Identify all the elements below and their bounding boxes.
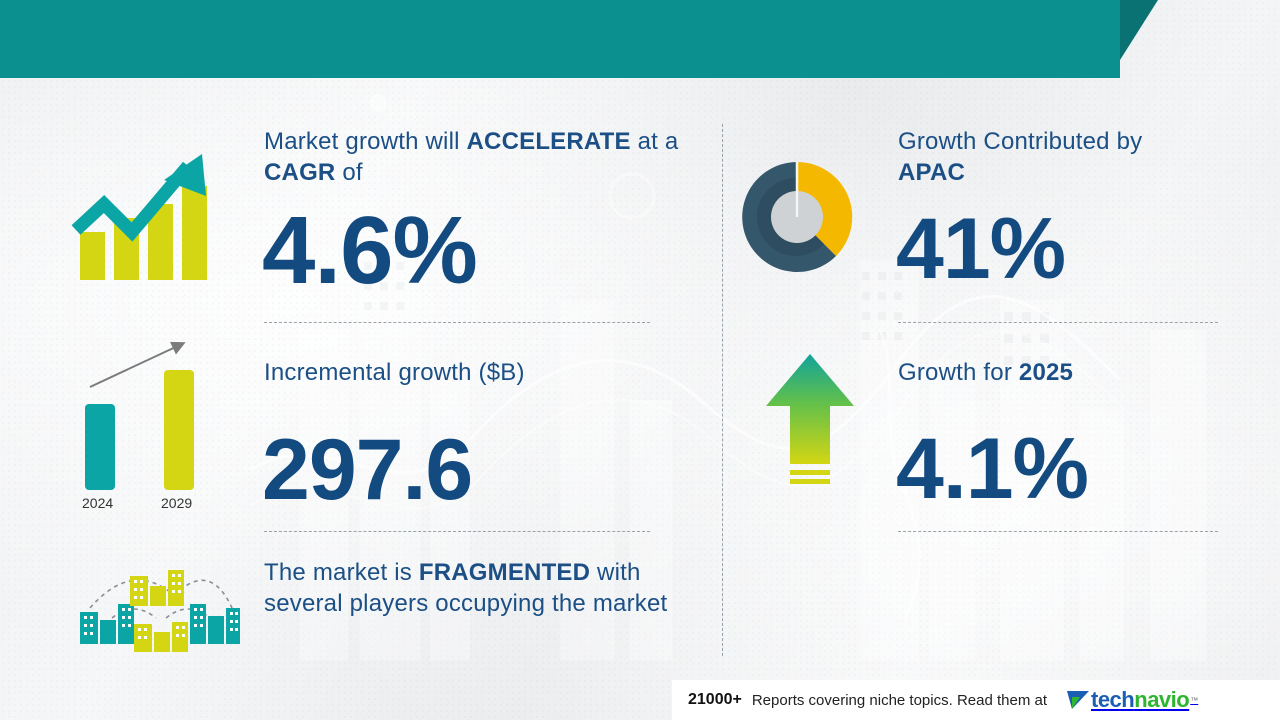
year-growth-text-prefix: Growth for [898,359,1019,386]
cagr-text-middle: at a [631,128,679,155]
year-growth-headline: Growth for 2025 [898,357,1198,388]
header-fold-corner [1120,0,1158,78]
cagr-text-bold2: CAGR [264,159,335,186]
cagr-value: 4.6% [262,196,477,306]
column-divider [722,124,723,656]
two-bar-comparison-icon [62,332,232,497]
section-divider-2 [264,531,650,532]
technavio-logo[interactable]: technavio™ [1065,687,1198,713]
header-banner [0,0,1120,78]
donut-chart-icon [736,156,858,283]
footer-bar: 21000+ Reports covering niche topics. Re… [672,680,1280,720]
bar-label-2029: 2029 [161,495,192,511]
section-divider-1 [264,322,650,323]
section-divider-4 [898,531,1218,532]
fragmented-text-bold: FRAGMENTED [419,559,590,586]
apac-headline: Growth Contributed by APAC [898,126,1198,188]
incremental-growth-value: 297.6 [262,421,472,520]
bar-label-2024: 2024 [82,495,113,511]
incremental-growth-label: Incremental growth ($B) [264,357,664,388]
fragmented-text-prefix: The market is [264,559,419,586]
cagr-text-bold: ACCELERATE [467,128,631,155]
cagr-text-prefix: Market growth will [264,128,467,155]
up-arrow-gradient-icon [762,352,858,497]
year-growth-value: 4.1% [896,420,1088,519]
cagr-headline: Market growth will ACCELERATE at a CAGR … [264,126,684,188]
logo-trademark: ™ [1190,696,1198,705]
section-divider-3 [898,322,1218,323]
footer-report-count: 21000+ [688,691,742,709]
growth-arrow-chart-icon [70,152,220,289]
city-buildings-network-icon [72,556,242,657]
apac-text-prefix: Growth Contributed by [898,128,1142,155]
fragmented-market-headline: The market is FRAGMENTED with several pl… [264,557,676,619]
apac-value: 41% [896,200,1065,299]
year-growth-text-bold: 2025 [1019,359,1073,386]
apac-text-bold: APAC [898,159,965,186]
footer-tagline: Reports covering niche topics. Read them… [752,692,1047,709]
cagr-text-suffix: of [335,159,362,186]
logo-text-navio: navio [1134,687,1189,713]
technavio-mark-icon [1065,688,1091,712]
logo-text-tech: tech [1091,687,1134,713]
